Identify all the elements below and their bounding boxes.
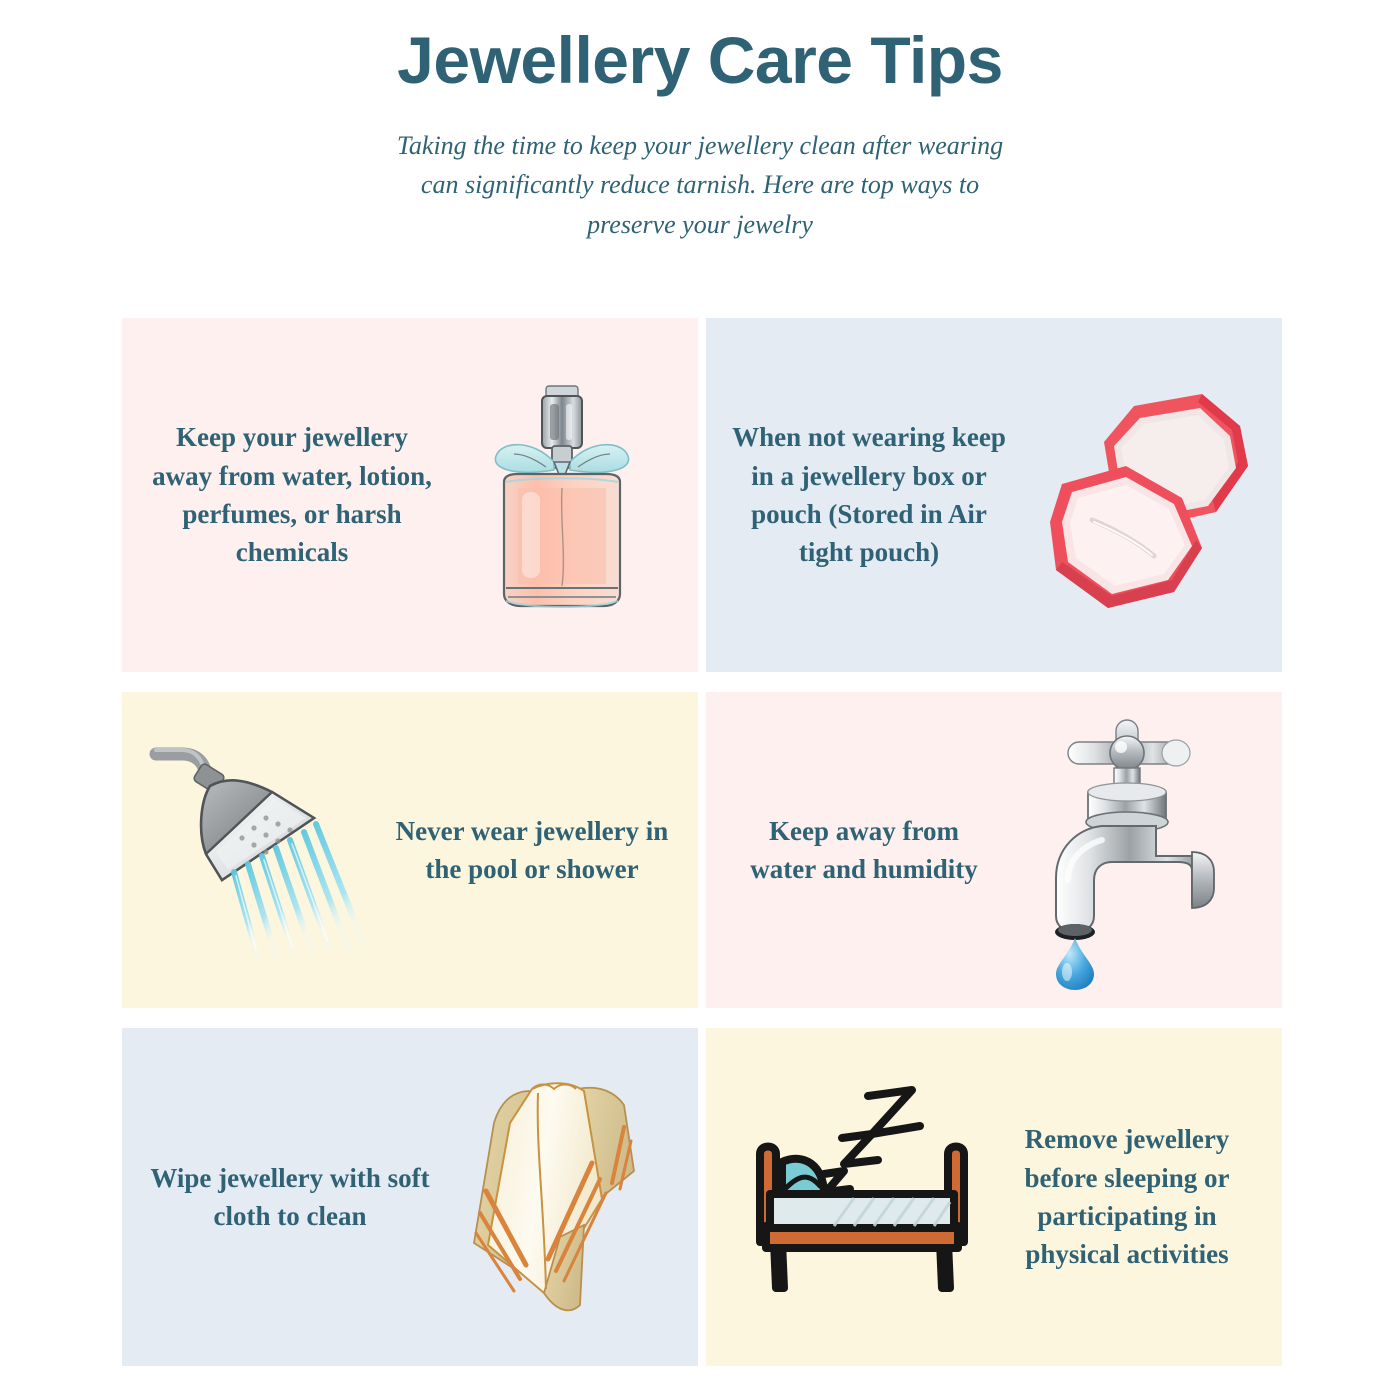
tip-card-1: Keep your jewellery away from water, lot… [122, 318, 698, 672]
infographic-page: Jewellery Care Tips Taking the time to k… [0, 0, 1400, 1400]
page-subtitle: Taking the time to keep your jewellery c… [380, 126, 1020, 245]
tip-card-3: Never wear jewellery in the pool or show… [122, 692, 698, 1008]
tip-card-1-text: Keep your jewellery away from water, lot… [122, 418, 452, 571]
tip-card-2: When not wearing keep in a jewellery box… [706, 318, 1282, 672]
perfume-bottle-icon [452, 365, 672, 625]
jewellery-box-icon [1026, 370, 1266, 620]
tip-card-4: Keep away from water and humidity [706, 692, 1282, 1008]
tips-grid: Keep your jewellery away from water, lot… [122, 318, 1278, 1366]
shower-head-icon [148, 730, 378, 970]
tip-card-5: Wipe jewellery with soft cloth to clean [122, 1028, 698, 1366]
cloth-icon [452, 1067, 682, 1327]
tip-card-6: Remove jewellery before sleeping or part… [706, 1028, 1282, 1366]
tip-card-3-text: Never wear jewellery in the pool or show… [378, 812, 698, 889]
header: Jewellery Care Tips Taking the time to k… [0, 0, 1400, 244]
tip-card-2-text: When not wearing keep in a jewellery box… [706, 418, 1026, 571]
tip-card-6-text: Remove jewellery before sleeping or part… [982, 1120, 1282, 1273]
tip-card-5-text: Wipe jewellery with soft cloth to clean [122, 1159, 452, 1236]
faucet-drip-icon [1006, 720, 1236, 980]
page-title: Jewellery Care Tips [0, 24, 1400, 98]
bed-sleep-icon [742, 1082, 982, 1312]
tip-card-4-text: Keep away from water and humidity [706, 812, 1006, 889]
